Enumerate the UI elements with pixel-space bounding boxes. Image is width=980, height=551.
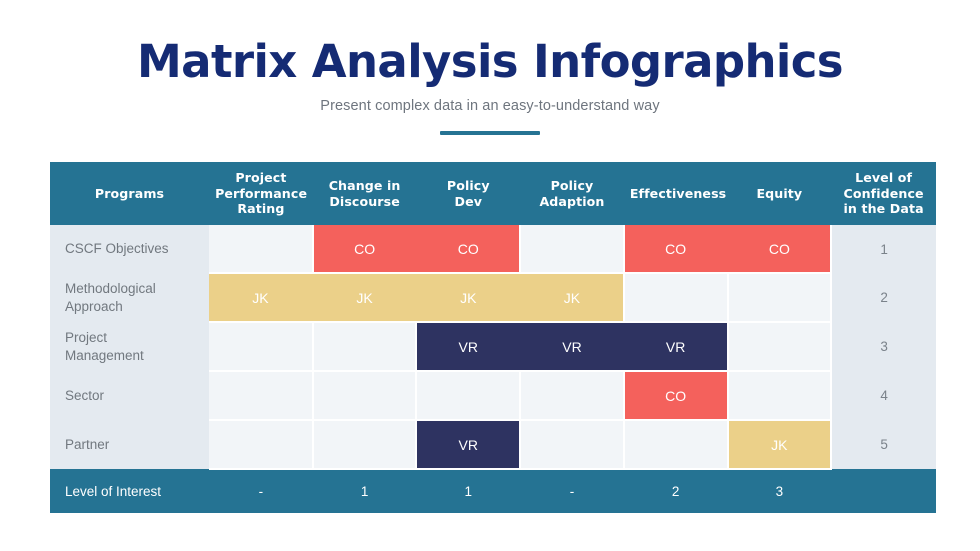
cell-partner-confidence: 5 (831, 420, 936, 469)
cell-partner-equity[interactable]: JK (728, 420, 832, 469)
matrix-header-row: Programs Project Performance Rating Chan… (50, 162, 936, 225)
table-row: CSCF Objectives CO CO CO CO 1 (50, 225, 936, 273)
footer-value-equity: 3 (728, 469, 832, 513)
page-header: Matrix Analysis Infographics Present com… (0, 0, 980, 135)
header-line-2: Dev (455, 194, 483, 209)
header-line-2: Confidence (844, 186, 924, 201)
column-header-change-in-discourse: Change in Discourse (313, 162, 417, 225)
matrix-footer-row: Level of Interest - 1 1 - 2 3 (50, 469, 936, 513)
header-line-2: Discourse (329, 194, 400, 209)
row-label-partner: Partner (50, 420, 209, 469)
cell-cscf-project-performance-rating[interactable] (209, 225, 313, 273)
column-header-policy-dev: Policy Dev (416, 162, 520, 225)
matrix-table: Programs Project Performance Rating Chan… (50, 162, 936, 513)
cell-sector-effectiveness[interactable]: CO (624, 371, 728, 420)
row-label-line-1: Methodological (65, 281, 156, 296)
cell-cscf-policy-dev[interactable]: CO (416, 225, 520, 273)
table-row: Project Management VR VR VR 3 (50, 322, 936, 371)
matrix-table-container: Programs Project Performance Rating Chan… (50, 162, 936, 513)
accent-divider (440, 131, 540, 135)
header-line-2: Performance (215, 186, 307, 201)
cell-cscf-change-in-discourse[interactable]: CO (313, 225, 417, 273)
row-label-project-management: Project Management (50, 322, 209, 371)
header-line-1: Project (235, 170, 286, 185)
table-row: Methodological Approach JK JK JK JK 2 (50, 273, 936, 322)
header-line-1: Change in (329, 178, 401, 193)
cell-cscf-confidence: 1 (831, 225, 936, 273)
column-header-project-performance-rating: Project Performance Rating (209, 162, 313, 225)
cell-project-mgmt-effectiveness[interactable]: VR (624, 322, 728, 371)
footer-value-policy-dev: 1 (416, 469, 520, 513)
header-line-1: Policy (551, 178, 594, 193)
table-row: Sector CO 4 (50, 371, 936, 420)
column-header-programs: Programs (50, 162, 209, 225)
cell-methodological-equity[interactable] (728, 273, 832, 322)
cell-sector-policy-dev[interactable] (416, 371, 520, 420)
row-label-line-1: Project (65, 330, 107, 345)
cell-methodological-change-in-discourse[interactable]: JK (313, 273, 417, 322)
cell-project-mgmt-equity[interactable] (728, 322, 832, 371)
cell-project-mgmt-confidence: 3 (831, 322, 936, 371)
cell-methodological-confidence: 2 (831, 273, 936, 322)
row-label-methodological-approach: Methodological Approach (50, 273, 209, 322)
cell-sector-confidence: 4 (831, 371, 936, 420)
cell-project-mgmt-project-performance-rating[interactable] (209, 322, 313, 371)
cell-cscf-equity[interactable]: CO (728, 225, 832, 273)
row-label-line-2: Approach (65, 299, 123, 314)
cell-partner-change-in-discourse[interactable] (313, 420, 417, 469)
cell-methodological-effectiveness[interactable] (624, 273, 728, 322)
cell-cscf-effectiveness[interactable]: CO (624, 225, 728, 273)
column-header-effectiveness: Effectiveness (624, 162, 728, 225)
page-title: Matrix Analysis Infographics (0, 0, 980, 87)
row-label-cscf-objectives: CSCF Objectives (50, 225, 209, 273)
cell-sector-project-performance-rating[interactable] (209, 371, 313, 420)
cell-cscf-policy-adaption[interactable] (520, 225, 624, 273)
cell-project-mgmt-policy-dev[interactable]: VR (416, 322, 520, 371)
cell-project-mgmt-change-in-discourse[interactable] (313, 322, 417, 371)
footer-value-change-in-discourse: 1 (313, 469, 417, 513)
header-line-3: in the Data (844, 201, 924, 216)
cell-project-mgmt-policy-adaption[interactable]: VR (520, 322, 624, 371)
table-row: Partner VR JK 5 (50, 420, 936, 469)
row-label-sector: Sector (50, 371, 209, 420)
column-header-level-of-confidence: Level of Confidence in the Data (831, 162, 936, 225)
cell-partner-policy-adaption[interactable] (520, 420, 624, 469)
footer-value-effectiveness: 2 (624, 469, 728, 513)
column-header-policy-adaption: Policy Adaption (520, 162, 624, 225)
cell-partner-project-performance-rating[interactable] (209, 420, 313, 469)
footer-value-policy-adaption: - (520, 469, 624, 513)
cell-sector-policy-adaption[interactable] (520, 371, 624, 420)
cell-methodological-policy-dev[interactable]: JK (416, 273, 520, 322)
cell-sector-change-in-discourse[interactable] (313, 371, 417, 420)
footer-label-level-of-interest: Level of Interest (50, 469, 209, 513)
header-line-3: Rating (237, 201, 284, 216)
cell-methodological-policy-adaption[interactable]: JK (520, 273, 624, 322)
footer-value-project-performance-rating: - (209, 469, 313, 513)
header-line-1: Level of (855, 170, 912, 185)
row-label-line-2: Management (65, 348, 144, 363)
column-header-equity: Equity (728, 162, 832, 225)
cell-partner-policy-dev[interactable]: VR (416, 420, 520, 469)
footer-value-confidence (831, 469, 936, 513)
cell-partner-effectiveness[interactable] (624, 420, 728, 469)
header-line-1: Policy (447, 178, 490, 193)
page-subtitle: Present complex data in an easy-to-under… (0, 87, 980, 114)
cell-sector-equity[interactable] (728, 371, 832, 420)
header-line-2: Adaption (539, 194, 604, 209)
cell-methodological-project-performance-rating[interactable]: JK (209, 273, 313, 322)
